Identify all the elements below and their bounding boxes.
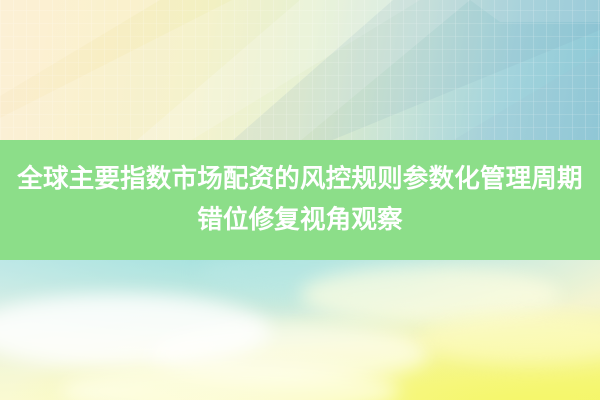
- title-line-2: 错位修复视角观察: [197, 200, 403, 241]
- cloud-shape-e: [60, 364, 400, 400]
- cloud-shape-d: [420, 312, 600, 364]
- bottom-gradient-panel: [0, 260, 600, 400]
- cloud-shape-c: [300, 266, 560, 324]
- title-band: 全球主要指数市场配资的风控规则参数化管理周期 错位修复视角观察: [0, 140, 600, 260]
- title-line-1: 全球主要指数市场配资的风控规则参数化管理周期: [17, 159, 582, 200]
- cloud-shape-a: [0, 294, 270, 368]
- top-facet-shapes: [0, 0, 600, 141]
- cloud-shape-b: [150, 322, 430, 384]
- top-gradient-panel: [0, 0, 600, 141]
- cloud-shape-f: [200, 260, 430, 300]
- banner-image: 全球主要指数市场配资的风控规则参数化管理周期 错位修复视角观察: [0, 0, 600, 400]
